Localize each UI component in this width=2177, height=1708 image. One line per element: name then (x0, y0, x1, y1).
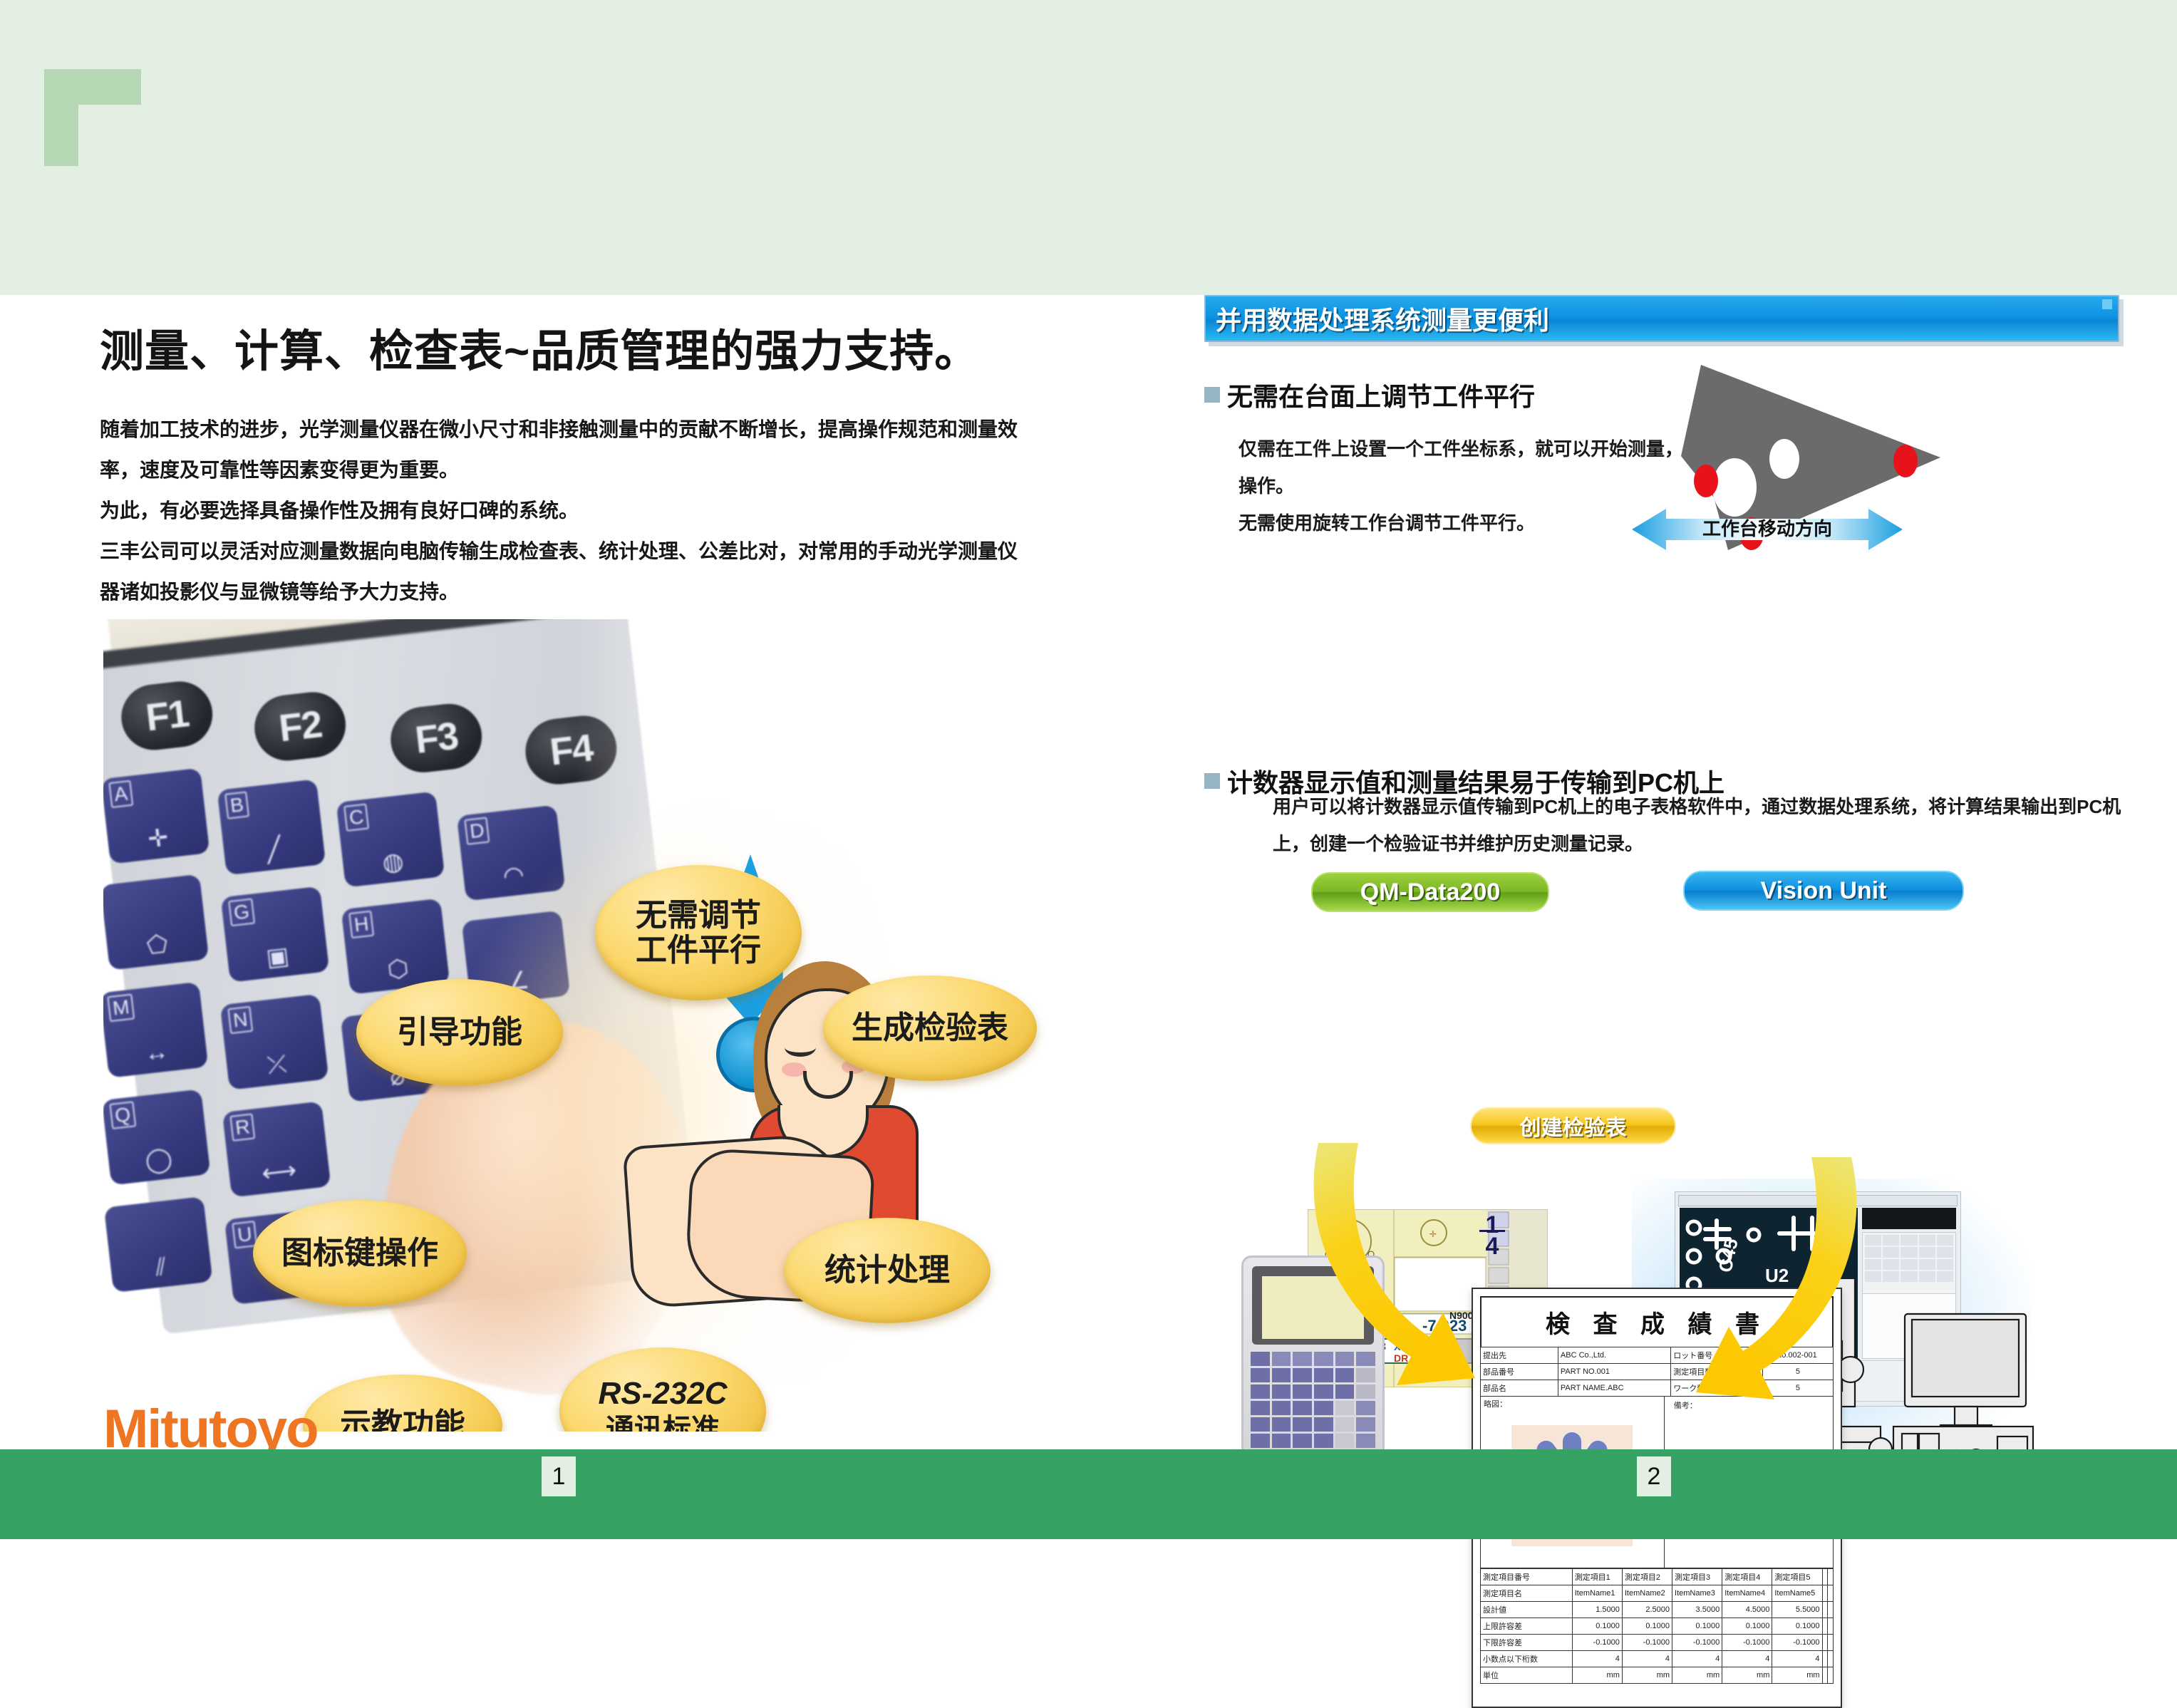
cell: 測定項目1 (1572, 1569, 1622, 1585)
section-banner-title: 并用数据处理系统测量更便利 (1216, 300, 1549, 337)
cell: 0.1000 (1622, 1618, 1672, 1635)
cell: ItemName2 (1622, 1585, 1672, 1602)
cell: 3.5000 (1672, 1602, 1722, 1618)
cell: 5.5000 (1772, 1602, 1822, 1618)
datum-marker-left (1694, 465, 1718, 497)
row-label: 下限許容差 (1481, 1635, 1573, 1651)
keypad-slash-icon: ⫽ (110, 1248, 212, 1288)
cell-empty (1822, 1602, 1828, 1618)
datum-marker-right (1893, 445, 1918, 477)
keypad-key-label: C (343, 804, 369, 832)
cell-empty (1828, 1602, 1834, 1618)
cell: 4 (1772, 1651, 1822, 1667)
cell-empty (1828, 1667, 1834, 1684)
cell: mm (1772, 1667, 1822, 1684)
stage-direction-label: 工作台移动方向 (1632, 514, 1903, 541)
keypad-key-label: A (108, 780, 133, 808)
intro-paragraph-1: 随着加工技术的进步，光学测量仪器在微小尺寸和非接触测量中的贡献不断增长，提高操作… (100, 409, 1019, 490)
keypad-icon-key-t: ⫽ (104, 1196, 213, 1293)
footer-band (0, 1449, 2177, 1539)
feature-bubble-label: 示教功能 (340, 1407, 465, 1432)
keypad-rect-icon: ▣ (227, 937, 329, 977)
table-row: 下限許容差 -0.1000 -0.1000 -0.1000 -0.1000 -0… (1481, 1635, 1834, 1651)
keypad-icon-key-n: N⤫ (220, 994, 329, 1090)
cell-empty (1828, 1635, 1834, 1651)
cell: 測定項目4 (1722, 1569, 1772, 1585)
cell: 4 (1622, 1651, 1672, 1667)
subsection-2-line-1: 用户可以将计数器显示值传输到PC机上的电子表格软件中，通过数据处理系统，将计算结… (1273, 788, 2149, 825)
feature-bubble-label: 引导功能 (397, 1015, 522, 1050)
cell: 0.1000 (1672, 1618, 1722, 1635)
cell-empty (1822, 1635, 1828, 1651)
flow-arrow-qm-to-report (1290, 1143, 1525, 1442)
table-row: 測定項目名 ItemName1 ItemName2 ItemName3 Item… (1481, 1585, 1834, 1602)
section-banner: 并用数据处理系统测量更便利 (1204, 295, 2119, 342)
report-value: PART NO.001 (1558, 1364, 1670, 1380)
subsection-1-title: 无需在台面上调节工件平行 (1227, 376, 1535, 413)
page-number-right: 2 (1637, 1456, 1671, 1496)
cell: mm (1722, 1667, 1772, 1684)
banner-notch (2102, 299, 2112, 309)
keypad-icon-key-q: Q◯ (103, 1089, 210, 1185)
cell: 0.1000 (1572, 1618, 1622, 1635)
keypad-icon-key-m: M↔ (103, 982, 208, 1078)
character-mouth (803, 1071, 853, 1099)
cell-empty (1822, 1569, 1828, 1585)
table-row: 測定項目番号 測定項目1 測定項目2 測定項目3 測定項目4 測定項目5 (1481, 1569, 1834, 1585)
feature-bubble-label: 无需调节工件平行 (636, 898, 761, 968)
cell: 測定項目3 (1672, 1569, 1722, 1585)
cell: 4.5000 (1722, 1602, 1772, 1618)
keypad-ellipse-icon: ◯ (108, 1140, 210, 1180)
cell: mm (1572, 1667, 1622, 1684)
bullet-square-icon (1204, 387, 1220, 403)
cell: mm (1672, 1667, 1722, 1684)
cell: mm (1622, 1667, 1672, 1684)
table-row: 小数点以下桁数 4 4 4 4 4 (1481, 1651, 1834, 1667)
keypad-icon-key-a: A✛ (103, 768, 210, 864)
cell: ItemName1 (1572, 1585, 1622, 1602)
row-label: 測定項目名 (1481, 1585, 1573, 1602)
row-label: 上限許容差 (1481, 1618, 1573, 1635)
report-value: ABC Co.,Ltd. (1558, 1347, 1670, 1364)
table-row: 上限許容差 0.1000 0.1000 0.1000 0.1000 0.1000 (1481, 1618, 1834, 1635)
report-measurement-table: 測定項目番号 測定項目1 測定項目2 測定項目3 測定項目4 測定項目5 測定項… (1480, 1568, 1834, 1684)
cell: 4 (1572, 1651, 1622, 1667)
keypad-key-label: N (227, 1006, 253, 1034)
cell: 1.5000 (1572, 1602, 1622, 1618)
keypad-point-icon: ✛ (107, 819, 210, 859)
pill-qm-data200[interactable]: QM-Data200 (1311, 872, 1549, 912)
row-label: 小数点以下桁数 (1481, 1651, 1573, 1667)
row-label: 設計値 (1481, 1602, 1573, 1618)
pill-vision-unit[interactable]: Vision Unit (1683, 871, 1964, 911)
right-column: 并用数据处理系统测量更便利 无需在台面上调节工件平行 仅需在工件上设置一个工件坐… (1204, 295, 2131, 1449)
feature-bubble-label: RS-232C 通讯标准 (599, 1376, 728, 1432)
keypad-intersect-icon: ⤫ (226, 1045, 329, 1085)
corner-bracket-vertical (44, 69, 78, 166)
subsection-2-body: 用户可以将计数器显示值传输到PC机上的电子表格软件中，通过数据处理系统，将计算结… (1273, 788, 2149, 862)
cell-empty (1828, 1569, 1834, 1585)
character-eye-left (785, 1038, 816, 1057)
page-body: 测量、计算、检查表~品质管理的强力支持。 随着加工技术的进步，光学测量仪器在微小… (0, 295, 2177, 1449)
cell: 4 (1672, 1651, 1722, 1667)
keypad-icon-key-g: G▣ (221, 886, 330, 983)
keypad-icon-key-r: R⟷ (222, 1101, 331, 1197)
feature-bubble-label: 图标键操作 (281, 1236, 438, 1270)
subsection-2-line-2: 上，创建一个检验证书并维护历史测量记录。 (1273, 825, 2149, 862)
cell: 2.5000 (1622, 1602, 1672, 1618)
cell-empty (1822, 1667, 1828, 1684)
pill-create-report[interactable]: 创建检验表 (1470, 1107, 1676, 1144)
keypad-poly-icon: ⬠ (106, 925, 209, 965)
feature-bubble-label: 生成检验表 (852, 1010, 1008, 1045)
corner-bracket-mark (44, 69, 141, 166)
flow-arrow-vision-to-report (1660, 1157, 1888, 1456)
cell: 0.1000 (1772, 1618, 1822, 1635)
keypad-icon-key-b: B╱ (217, 779, 326, 875)
cell: -0.1000 (1772, 1635, 1822, 1651)
feature-bubble-statistics[interactable]: 统计处理 (784, 1218, 991, 1323)
keypad-key-label: B (224, 792, 249, 819)
keypad-circle-icon: ◍ (342, 842, 445, 882)
intro-paragraphs: 随着加工技术的进步，光学测量仪器在微小尺寸和非接触测量中的贡献不断增长，提高操作… (100, 409, 1019, 612)
keypad-icon-key-c: C◍ (336, 792, 445, 888)
cell-empty (1822, 1618, 1828, 1635)
cell-empty (1828, 1618, 1834, 1635)
intro-paragraph-3: 三丰公司可以灵活对应测量数据向电脑传输生成检查表、统计处理、公差比对，对常用的手… (100, 531, 1019, 612)
table-row: 単位 mm mm mm mm mm (1481, 1667, 1834, 1684)
row-label: 測定項目番号 (1481, 1569, 1573, 1585)
keypad-key-label: H (348, 911, 374, 938)
cell-empty (1828, 1651, 1834, 1667)
table-row: 設計値 1.5000 2.5000 3.5000 4.5000 5.5000 (1481, 1602, 1834, 1618)
keypad-photo-panel: F1 F2 F3 F4 A✛ B╱ C◍ D◠ ⬠ G▣ H⬡ ∠ M↔ N⤫ … (103, 619, 1062, 1432)
cell-empty (1822, 1651, 1828, 1667)
cell: 0.1000 (1722, 1618, 1772, 1635)
keypad-key-label: G (228, 899, 255, 927)
page-number-left: 1 (542, 1456, 576, 1496)
cell: -0.1000 (1722, 1635, 1772, 1651)
feature-bubble-label: 统计处理 (824, 1253, 950, 1288)
row-label: 単位 (1481, 1667, 1573, 1684)
feature-bubble-guidance[interactable]: 引导功能 (356, 979, 563, 1086)
feature-bubble-icon-keys[interactable]: 图标键操作 (253, 1200, 467, 1307)
report-value: PART NAME.ABC (1558, 1380, 1670, 1397)
workpiece-hole-1 (1712, 458, 1757, 517)
cell-empty (1828, 1585, 1834, 1602)
keypad-distance-icon: ↔ (105, 1033, 208, 1072)
cell: ItemName5 (1772, 1585, 1822, 1602)
character-cheek-left (782, 1062, 806, 1077)
cell: 4 (1722, 1651, 1772, 1667)
keypad-radius-icon: ⟷ (228, 1152, 331, 1192)
cell-empty (1822, 1585, 1828, 1602)
bullet-square-icon (1204, 773, 1220, 789)
feature-bubble-no-alignment[interactable]: 无需调节工件平行 (595, 865, 802, 1000)
cell: -0.1000 (1622, 1635, 1672, 1651)
cell: 測定項目2 (1622, 1569, 1672, 1585)
keypad-icon-key-e: ⬠ (103, 874, 209, 971)
feature-bubble-generate-report[interactable]: 生成检验表 (823, 975, 1037, 1081)
cell: -0.1000 (1672, 1635, 1722, 1651)
cell: ItemName3 (1672, 1585, 1722, 1602)
workpiece-hole-2 (1769, 439, 1799, 479)
keypad-key-label: M (107, 993, 135, 1022)
cell: -0.1000 (1572, 1635, 1622, 1651)
top-green-band (0, 0, 2177, 295)
stage-direction-arrow: 工作台移动方向 (1632, 509, 1903, 550)
cell: ItemName4 (1722, 1585, 1772, 1602)
keypad-line-icon: ╱ (223, 830, 326, 870)
keypad-key-label: Q (109, 1101, 136, 1129)
page-title: 测量、计算、检查表~品质管理的强力支持。 (100, 315, 979, 379)
cell: 測定項目5 (1772, 1569, 1822, 1585)
intro-paragraph-2: 为此，有必要选择具备操作性及拥有良好口碑的系统。 (100, 490, 1019, 531)
keypad-key-label: R (229, 1113, 255, 1141)
